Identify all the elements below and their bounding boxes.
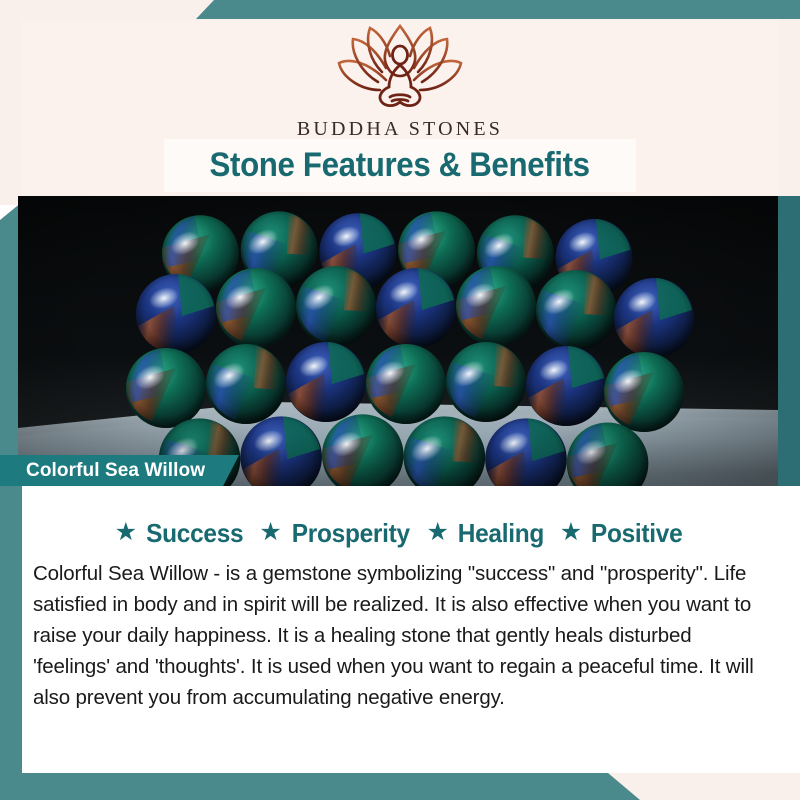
page-title: Stone Features & Benefits (210, 146, 590, 185)
star-icon: ★ (426, 520, 448, 545)
product-photo (18, 196, 778, 486)
brand-logo: BUDDHA STONES (0, 22, 800, 141)
star-icon: ★ (115, 520, 137, 545)
benefit-label: Positive (591, 518, 682, 549)
page-title-band: Stone Features & Benefits (164, 139, 636, 192)
star-icon: ★ (560, 520, 582, 545)
benefit-label: Prosperity (292, 518, 410, 549)
benefit-label: Healing (458, 518, 544, 549)
bottom-teal-accent-bar (0, 773, 640, 800)
benefit-item-positive: ★ Positive (560, 518, 686, 549)
benefit-item-prosperity: ★ Prosperity (259, 518, 413, 549)
benefits-row: ★ Success ★ Prosperity ★ Healing ★ Posit… (0, 518, 800, 549)
benefit-item-healing: ★ Healing (426, 518, 546, 549)
brand-name: BUDDHA STONES (0, 118, 800, 141)
star-icon: ★ (259, 520, 281, 545)
product-photo-graphic (18, 196, 778, 486)
lotus-meditation-icon (320, 22, 480, 114)
benefit-item-success: ★ Success (115, 518, 247, 549)
product-caption: Colorful Sea Willow (0, 455, 239, 486)
description-text: Colorful Sea Willow - is a gemstone symb… (33, 558, 773, 713)
right-teal-accent-rail (778, 196, 800, 486)
product-caption-label: Colorful Sea Willow (26, 460, 205, 482)
benefit-label: Success (146, 518, 243, 549)
infographic-page: BUDDHA STONES Stone Features & Benefits (0, 0, 800, 800)
